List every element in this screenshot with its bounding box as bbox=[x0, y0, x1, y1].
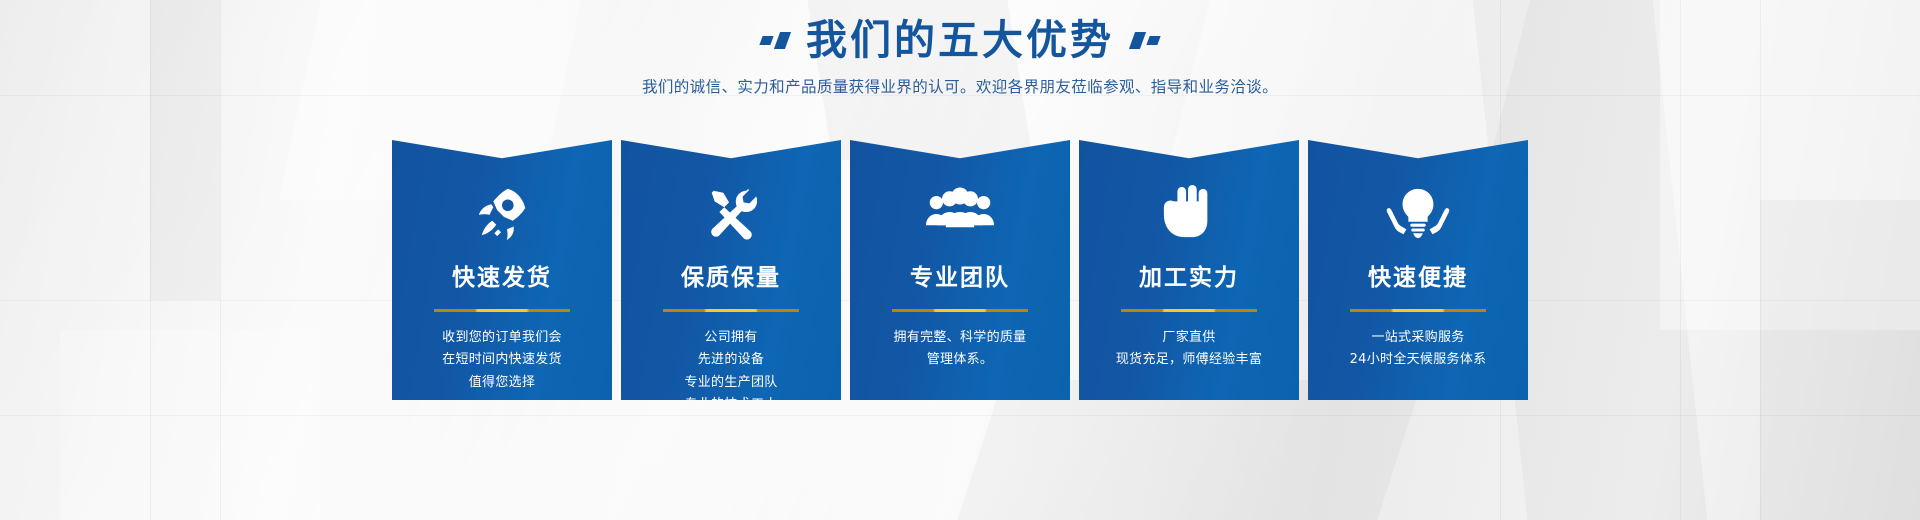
advantage-card-list: 快速发货 收到您的订单我们会 在短时间内快速发货 值得您选择 保质保量 公司拥有… bbox=[0, 140, 1920, 400]
card-body-line: 先进的设备 bbox=[621, 349, 841, 371]
advantage-card[interactable]: 快速便捷 一站式采购服务 24小时全天候服务体系 bbox=[1308, 140, 1528, 400]
card-body-line: 公司拥有 bbox=[621, 327, 841, 349]
advantage-card[interactable]: 加工实力 厂家直供 现货充足，师傅经验丰富 bbox=[1079, 140, 1299, 400]
card-body-line: 值得您选择 bbox=[392, 372, 612, 394]
card-body-line: 厂家直供 bbox=[1079, 327, 1299, 349]
card-divider bbox=[892, 309, 1028, 312]
card-body-line: 收到您的订单我们会 bbox=[392, 327, 612, 349]
rocket-icon bbox=[392, 184, 612, 242]
page-subtitle: 我们的诚信、实力和产品质量获得业界的认可。欢迎各界朋友莅临参观、指导和业务洽谈。 bbox=[0, 75, 1920, 97]
card-divider bbox=[1350, 309, 1486, 312]
card-title: 专业团队 bbox=[850, 258, 1070, 292]
card-title: 加工实力 bbox=[1079, 258, 1299, 292]
card-divider bbox=[1121, 309, 1257, 312]
card-divider bbox=[434, 309, 570, 312]
card-body: 一站式采购服务 24小时全天候服务体系 bbox=[1308, 327, 1528, 372]
lightbulb-hands-icon bbox=[1308, 184, 1528, 242]
card-body: 厂家直供 现货充足，师傅经验丰富 bbox=[1079, 327, 1299, 372]
card-body-line: 管理体系。 bbox=[850, 349, 1070, 371]
card-body-line: 拥有完整、科学的质量 bbox=[850, 327, 1070, 349]
card-title: 保质保量 bbox=[621, 258, 841, 292]
title-row: 我们的五大优势 bbox=[0, 18, 1920, 63]
page-title: 我们的五大优势 bbox=[806, 18, 1114, 63]
team-people-icon bbox=[850, 184, 1070, 242]
advantage-card[interactable]: 专业团队 拥有完整、科学的质量 管理体系。 bbox=[850, 140, 1070, 400]
advantage-card[interactable]: 快速发货 收到您的订单我们会 在短时间内快速发货 值得您选择 bbox=[392, 140, 612, 400]
card-body-line: 24小时全天候服务体系 bbox=[1308, 349, 1528, 371]
card-body: 拥有完整、科学的质量 管理体系。 bbox=[850, 327, 1070, 372]
card-title: 快速便捷 bbox=[1308, 258, 1528, 292]
card-body-line: 现货充足，师傅经验丰富 bbox=[1079, 349, 1299, 371]
header: 我们的五大优势 我们的诚信、实力和产品质量获得业界的认可。欢迎各界朋友莅临参观、… bbox=[0, 0, 1920, 97]
diamond-ornament-right-icon bbox=[1132, 32, 1159, 49]
card-body-line: 在短时间内快速发货 bbox=[392, 349, 612, 371]
wrench-screwdriver-icon bbox=[621, 184, 841, 242]
card-body: 收到您的订单我们会 在短时间内快速发货 值得您选择 bbox=[392, 327, 612, 394]
card-body-line: 专业的生产团队 bbox=[621, 372, 841, 394]
fist-icon bbox=[1079, 184, 1299, 242]
advantage-card[interactable]: 保质保量 公司拥有 先进的设备 专业的生产团队 专业的技术工人 bbox=[621, 140, 841, 400]
diamond-ornament-left-icon bbox=[761, 32, 788, 49]
card-body-line: 一站式采购服务 bbox=[1308, 327, 1528, 349]
card-divider bbox=[663, 309, 799, 312]
card-title: 快速发货 bbox=[392, 258, 612, 292]
